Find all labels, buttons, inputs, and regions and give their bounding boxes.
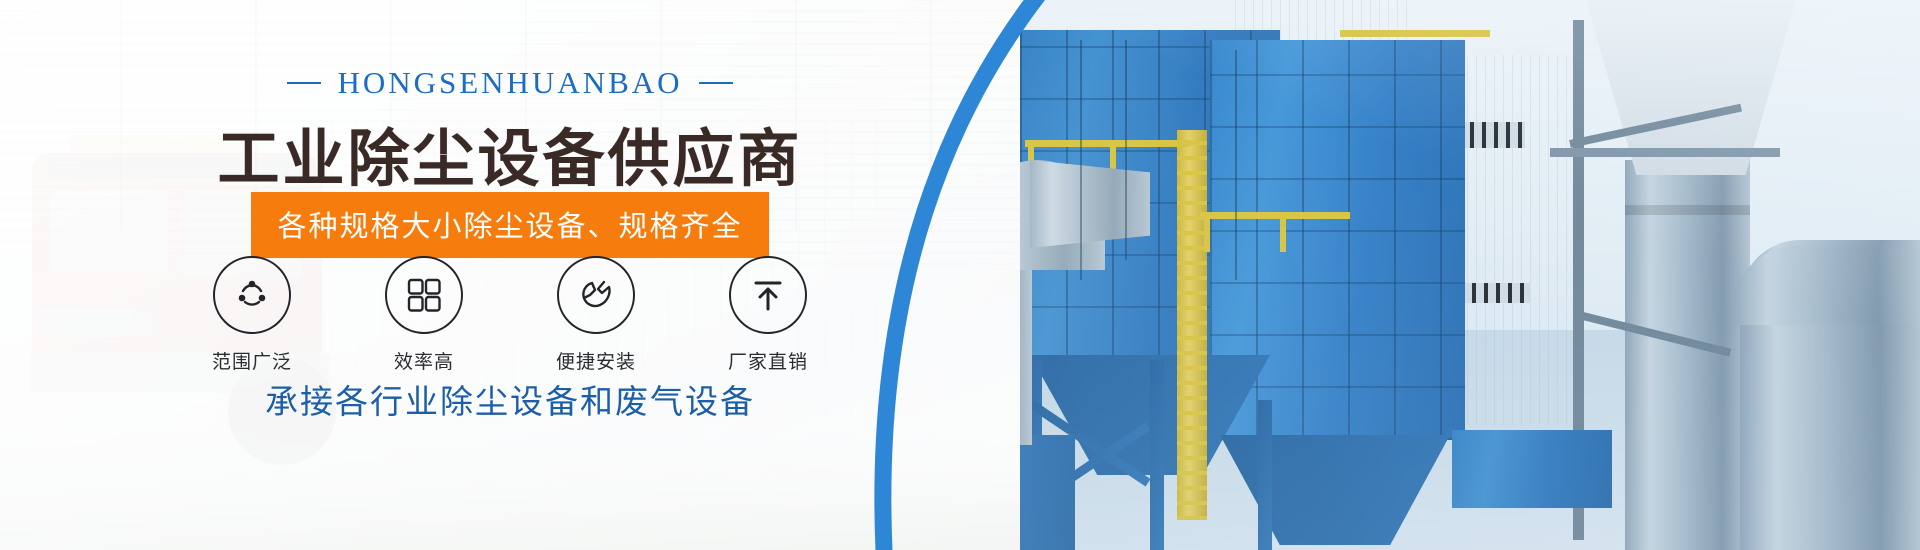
- feature-icon-row: 范围广泛 效率高: [0, 256, 1020, 374]
- eyebrow-text: HONGSENHUANBAO: [337, 65, 682, 100]
- four-squares-grid-icon: [385, 256, 463, 334]
- feature-label: 范围广泛: [196, 347, 308, 374]
- feature-item-high-efficiency[interactable]: 效率高: [368, 256, 480, 374]
- arrow-up-bar-icon: [729, 256, 807, 334]
- brand-eyebrow: HONGSENHUANBAO: [0, 65, 1020, 101]
- feature-label: 便捷安装: [540, 347, 652, 374]
- feature-item-factory-direct[interactable]: 厂家直销: [712, 256, 824, 374]
- eyebrow-dash-right: [699, 82, 733, 84]
- feature-item-wide-range[interactable]: 范围广泛: [196, 256, 308, 374]
- feature-label: 厂家直销: [712, 347, 824, 374]
- eyebrow-dash-left: [287, 82, 321, 84]
- orange-subbar: 各种规格大小除尘设备、规格齐全: [251, 192, 768, 258]
- tagline: 承接各行业除尘设备和废气设备: [0, 375, 1020, 423]
- subbar-wrapper: 各种规格大小除尘设备、规格齐全: [0, 192, 1020, 258]
- feature-label: 效率高: [368, 347, 480, 374]
- promo-banner: HONGSENHUANBAO 工业除尘设备供应商 各种规格大小除尘设备、规格齐全: [0, 0, 1920, 550]
- headline: 工业除尘设备供应商: [0, 108, 1020, 198]
- wrench-icon: [557, 256, 635, 334]
- network-nodes-icon: [213, 256, 291, 334]
- banner-text-content: HONGSENHUANBAO 工业除尘设备供应商 各种规格大小除尘设备、规格齐全: [0, 0, 1020, 550]
- feature-item-easy-install[interactable]: 便捷安装: [540, 256, 652, 374]
